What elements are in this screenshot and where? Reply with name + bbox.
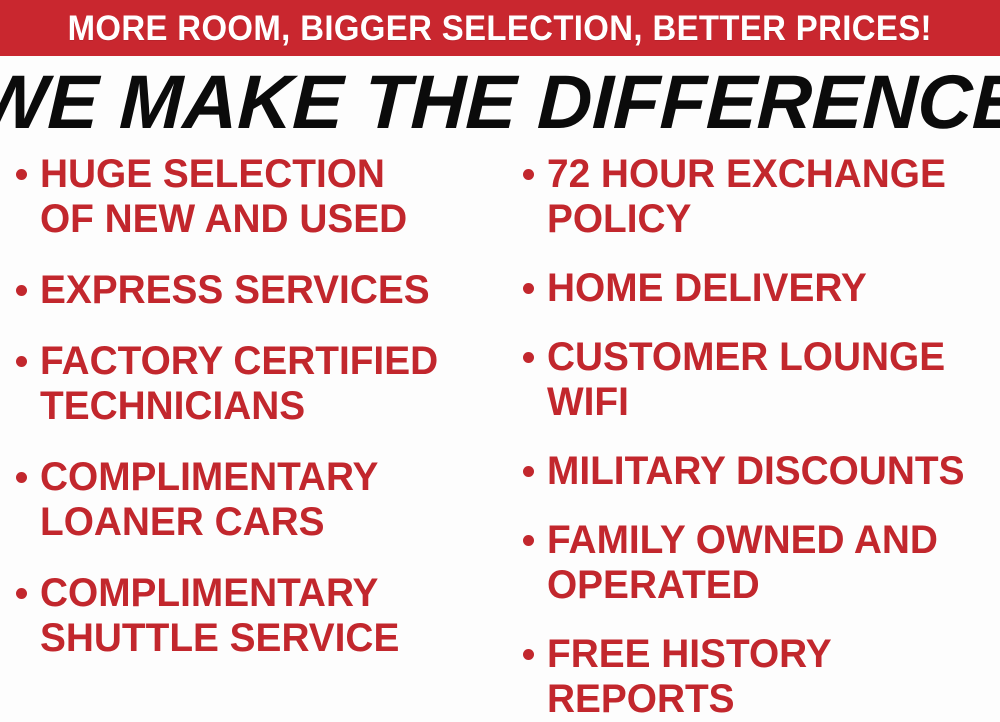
bullet-dot-icon	[523, 535, 534, 546]
bullet-dot-icon	[16, 169, 27, 180]
list-item: COMPLIMENTARY LOANER CARS	[16, 455, 505, 545]
list-item-label: COMPLIMENTARY SHUTTLE SERVICE	[40, 571, 399, 661]
list-item: FREE HISTORY REPORTS	[523, 632, 1000, 722]
list-item: COMPLIMENTARY SHUTTLE SERVICE	[16, 571, 505, 661]
benefits-column-left: HUGE SELECTION OF NEW AND USED EXPRESS S…	[0, 152, 505, 694]
bullet-dot-icon	[523, 283, 534, 294]
bullet-dot-icon	[523, 466, 534, 477]
banner-headline-text: MORE ROOM, BIGGER SELECTION, BETTER PRIC…	[68, 11, 932, 46]
list-item: HOME DELIVERY	[523, 266, 1000, 311]
list-item-label: HUGE SELECTION OF NEW AND USED	[40, 152, 407, 242]
list-item: 72 HOUR EXCHANGE POLICY	[523, 152, 1000, 242]
list-item-label: 72 HOUR EXCHANGE POLICY	[547, 152, 946, 242]
headline-container: WE MAKE THE DIFFERENCE	[0, 62, 1000, 144]
list-item-label: FREE HISTORY REPORTS	[547, 632, 832, 722]
benefits-column-right: 72 HOUR EXCHANGE POLICY HOME DELIVERY CU…	[505, 152, 1000, 694]
list-item-label: CUSTOMER LOUNGE WIFI	[547, 335, 945, 425]
list-item-label: HOME DELIVERY	[547, 266, 867, 311]
bullet-dot-icon	[16, 588, 27, 599]
promo-poster: MORE ROOM, BIGGER SELECTION, BETTER PRIC…	[0, 0, 1000, 694]
list-item-label: FACTORY CERTIFIED TECHNICIANS	[40, 339, 438, 429]
list-item-label: EXPRESS SERVICES	[40, 268, 430, 313]
list-item: HUGE SELECTION OF NEW AND USED	[16, 152, 505, 242]
list-item-label: FAMILY OWNED AND OPERATED	[547, 518, 938, 608]
bullet-dot-icon	[523, 649, 534, 660]
list-item: EXPRESS SERVICES	[16, 268, 505, 313]
bullet-dot-icon	[16, 356, 27, 367]
list-item: MILITARY DISCOUNTS	[523, 449, 1000, 494]
list-item-label: MILITARY DISCOUNTS	[547, 449, 964, 494]
bullet-dot-icon	[523, 169, 534, 180]
list-item: CUSTOMER LOUNGE WIFI	[523, 335, 1000, 425]
top-banner: MORE ROOM, BIGGER SELECTION, BETTER PRIC…	[0, 0, 1000, 56]
bullet-dot-icon	[16, 472, 27, 483]
bullet-dot-icon	[16, 285, 27, 296]
list-item: FAMILY OWNED AND OPERATED	[523, 518, 1000, 608]
page-title: WE MAKE THE DIFFERENCE	[0, 65, 1000, 141]
list-item: FACTORY CERTIFIED TECHNICIANS	[16, 339, 505, 429]
bullet-dot-icon	[523, 352, 534, 363]
list-item-label: COMPLIMENTARY LOANER CARS	[40, 455, 378, 545]
benefits-columns: HUGE SELECTION OF NEW AND USED EXPRESS S…	[0, 152, 1000, 694]
